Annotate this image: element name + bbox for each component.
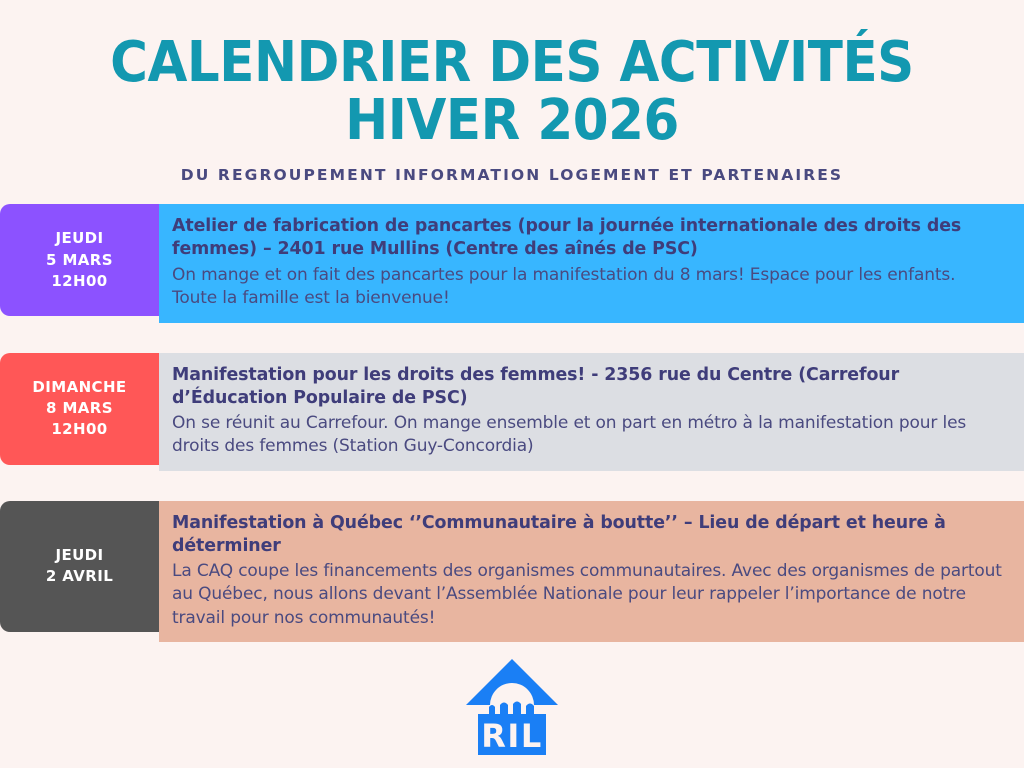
event-row: DIMANCHE 8 MARS 12H00 Manifestation pour… [0, 353, 1024, 471]
event-time: 12H00 [51, 419, 107, 440]
poster-canvas: CALENDRIER DES ACTIVITÉS HIVER 2026 DU R… [0, 0, 1024, 768]
event-title-line-1: Manifestation pour les droits des femmes… [172, 365, 899, 385]
event-description: On mange et on fait des pancartes pour l… [172, 264, 1002, 311]
event-panel: Manifestation à Québec ‘’Communautaire à… [159, 501, 1024, 643]
event-description: On se réunit au Carrefour. On mange ense… [172, 412, 1002, 459]
poster-header: CALENDRIER DES ACTIVITÉS HIVER 2026 DU R… [0, 0, 1024, 184]
event-title: Manifestation à Québec ‘’Communautaire à… [172, 512, 1002, 558]
event-date-badge: JEUDI 2 AVRIL [0, 501, 159, 632]
event-row: JEUDI 5 MARS 12H00 Atelier de fabricatio… [0, 204, 1024, 322]
page-title: CALENDRIER DES ACTIVITÉS HIVER 2026 [41, 34, 983, 149]
ril-house-logo-icon: RIL [466, 659, 558, 755]
logo-container: RIL [0, 659, 1024, 755]
event-title-line-2: – 2401 rue Mullins (Centre des aînés de … [263, 239, 698, 259]
event-title-line-1: Manifestation à Québec ‘’Communautaire à… [172, 513, 678, 533]
event-date-badge: JEUDI 5 MARS 12H00 [0, 204, 159, 316]
page-subtitle: DU REGROUPEMENT INFORMATION LOGEMENT ET … [0, 166, 1024, 184]
event-time: 12H00 [51, 271, 107, 292]
title-line-1: CALENDRIER DES ACTIVITÉS [110, 30, 914, 95]
event-panel: Manifestation pour les droits des femmes… [159, 353, 1024, 471]
event-row: JEUDI 2 AVRIL Manifestation à Québec ‘’C… [0, 501, 1024, 643]
event-date: 2 AVRIL [46, 566, 113, 587]
event-title: Atelier de fabrication de pancartes (pou… [172, 215, 1002, 261]
event-date: 8 MARS [46, 398, 113, 419]
event-date: 5 MARS [46, 250, 113, 271]
event-title: Manifestation pour les droits des femmes… [172, 364, 1002, 410]
event-day: DIMANCHE [32, 377, 126, 398]
logo-text: RIL [481, 717, 542, 755]
events-list: JEUDI 5 MARS 12H00 Atelier de fabricatio… [0, 204, 1024, 642]
title-line-2: HIVER 2026 [41, 92, 983, 150]
event-description: La CAQ coupe les financements des organi… [172, 560, 1002, 630]
event-date-badge: DIMANCHE 8 MARS 12H00 [0, 353, 159, 465]
event-day: JEUDI [55, 228, 103, 249]
event-day: JEUDI [55, 545, 103, 566]
event-title-line-2: d’Éducation Populaire de PSC) [172, 388, 467, 408]
event-panel: Atelier de fabrication de pancartes (pou… [159, 204, 1024, 322]
